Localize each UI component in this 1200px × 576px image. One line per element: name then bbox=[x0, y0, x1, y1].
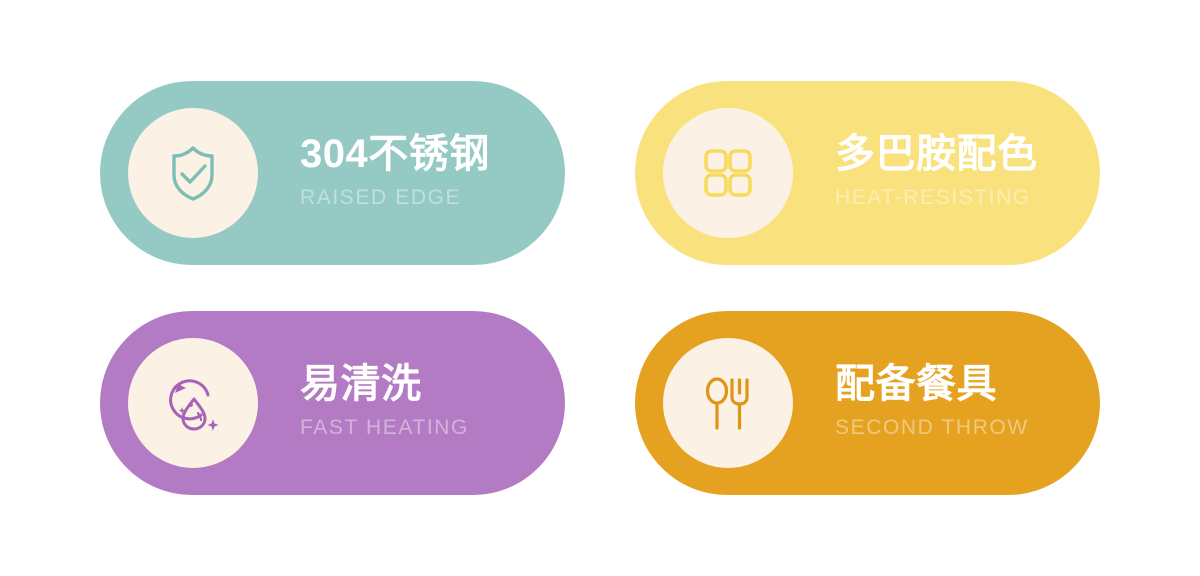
feature-card-grid: 304不锈钢 RAISED EDGE 多巴胺配色 HEAT-RESISTING bbox=[0, 0, 1200, 576]
icon-badge bbox=[128, 338, 258, 468]
feature-card-stainless-steel[interactable]: 304不锈钢 RAISED EDGE bbox=[100, 81, 565, 265]
icon-badge bbox=[663, 338, 793, 468]
feature-card-easy-clean[interactable]: 易清洗 FAST HEATING bbox=[100, 311, 565, 495]
card-text-block: 配备餐具 SECOND THROW bbox=[835, 362, 1029, 443]
spoon-fork-icon bbox=[696, 371, 760, 435]
card-text-block: 易清洗 FAST HEATING bbox=[300, 362, 469, 443]
card-title: 多巴胺配色 bbox=[835, 132, 1038, 177]
card-subtitle: SECOND THROW bbox=[835, 414, 1029, 441]
feature-card-dopamine-color[interactable]: 多巴胺配色 HEAT-RESISTING bbox=[635, 81, 1100, 265]
icon-badge bbox=[663, 108, 793, 238]
icon-badge bbox=[128, 108, 258, 238]
card-text-block: 多巴胺配色 HEAT-RESISTING bbox=[835, 132, 1038, 213]
water-drop-refresh-icon bbox=[161, 371, 225, 435]
card-subtitle: RAISED EDGE bbox=[300, 184, 490, 211]
grid-four-squares-icon bbox=[696, 141, 760, 205]
card-title: 配备餐具 bbox=[835, 362, 1029, 407]
card-subtitle: HEAT-RESISTING bbox=[835, 184, 1038, 211]
card-title: 304不锈钢 bbox=[300, 132, 490, 177]
feature-card-cutlery-included[interactable]: 配备餐具 SECOND THROW bbox=[635, 311, 1100, 495]
card-subtitle: FAST HEATING bbox=[300, 414, 469, 441]
card-text-block: 304不锈钢 RAISED EDGE bbox=[300, 132, 490, 213]
card-title: 易清洗 bbox=[300, 362, 469, 407]
shield-check-icon bbox=[161, 141, 225, 205]
